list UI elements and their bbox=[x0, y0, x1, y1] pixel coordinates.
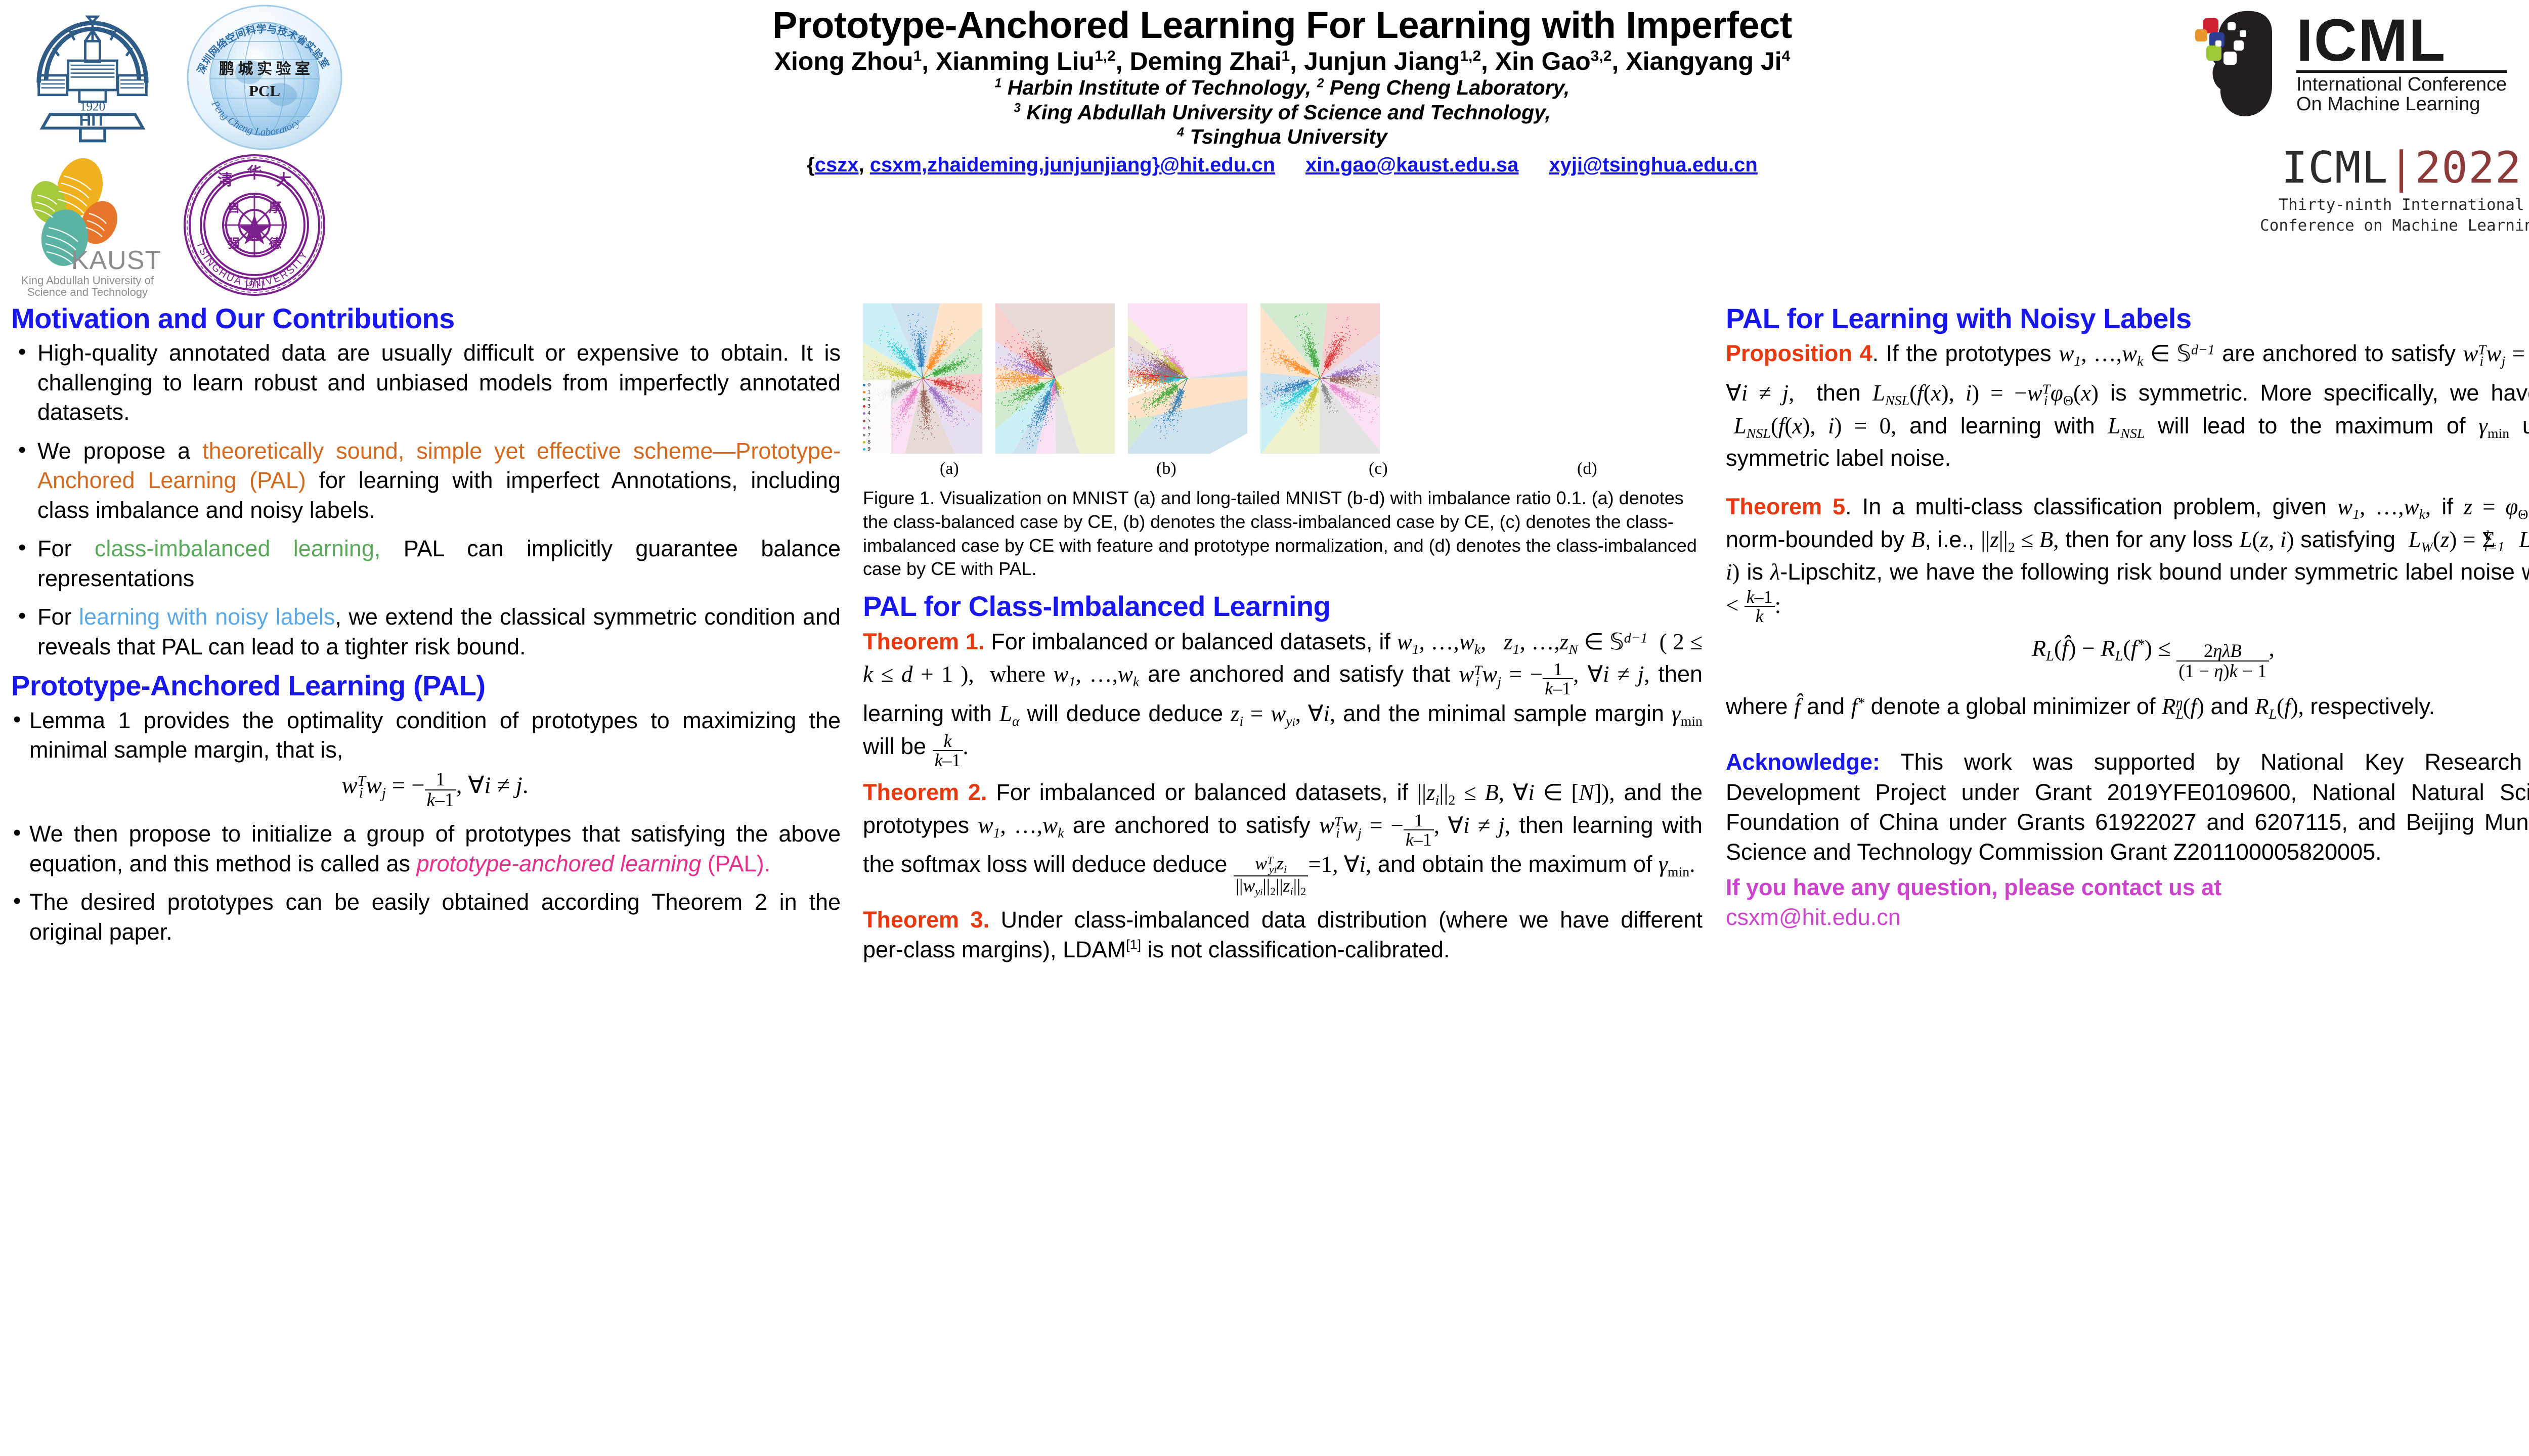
figure-legend: 0123456789 bbox=[863, 380, 891, 454]
svg-text:厚: 厚 bbox=[269, 201, 281, 215]
icml-year: 2022 bbox=[2415, 143, 2521, 193]
icml-subtitle-1: International Conference bbox=[2296, 75, 2507, 95]
section-title-class-imbalanced: PAL for Class-Imbalanced Learning bbox=[863, 591, 1703, 621]
legend-label: 0 bbox=[867, 382, 870, 388]
svg-text:大: 大 bbox=[276, 172, 291, 189]
email-row: {cszx, csxm,zhaideming,junjunjiang}@hit.… bbox=[374, 154, 2190, 177]
legend-item: 1 bbox=[863, 389, 890, 395]
affiliation-line-3: 4 Tsinghua University bbox=[374, 124, 2190, 149]
figure-label-b: (b) bbox=[1156, 459, 1176, 478]
kaust-logo-sub1: King Abdullah University of bbox=[21, 274, 154, 287]
bullet-text-5: Lemma 1 provides the optimality conditio… bbox=[29, 708, 841, 763]
legend-color-swatch bbox=[863, 391, 865, 393]
proposition-4-block: Proposition 4. If the prototypes w1, …,w… bbox=[1726, 338, 2529, 473]
svg-text:清: 清 bbox=[217, 172, 233, 189]
bullet-text-2-pre: We propose a bbox=[37, 438, 202, 464]
icml-top-logo: ICML International Conference On Machine… bbox=[2195, 3, 2529, 124]
poster-header: 1920 HIT bbox=[0, 0, 2529, 296]
legend-color-swatch bbox=[863, 420, 865, 422]
figure-panel-b bbox=[995, 303, 1115, 454]
acknowledgement-tag: Acknowledge: bbox=[1726, 749, 1880, 775]
svg-text:华: 华 bbox=[247, 165, 262, 182]
figure-panel-c bbox=[1128, 303, 1247, 454]
kaust-logo-sub2: Science and Technology bbox=[27, 286, 148, 298]
hit-logo-text: HIT bbox=[79, 111, 106, 129]
list-item: We then propose to initialize a group of… bbox=[11, 819, 841, 878]
legend-color-swatch bbox=[863, 398, 865, 401]
tsinghua-logo: 自 厚 强 德 清 华 大 TSINGHUA UNIVERSITY 1911 bbox=[171, 152, 338, 296]
list-item: The desired prototypes can be easily obt… bbox=[11, 888, 841, 947]
section-title-noisy-labels: PAL for Learning with Noisy Labels bbox=[1726, 303, 2529, 333]
section-title-pal: Prototype-Anchored Learning (PAL) bbox=[11, 671, 841, 700]
icml-logo-block: ICML International Conference On Machine… bbox=[2195, 1, 2529, 284]
legend-item: 5 bbox=[863, 418, 890, 424]
legend-label: 4 bbox=[867, 411, 870, 416]
pal-bullet-list: Lemma 1 provides the optimality conditio… bbox=[11, 706, 841, 947]
legend-item: 3 bbox=[863, 403, 890, 410]
icml-year-block: ICML|2022 Thirty-ninth International Con… bbox=[2214, 143, 2529, 234]
acknowledgement-block: Acknowledge: This work was supported by … bbox=[1726, 747, 2529, 867]
email-link-group[interactable]: csxm,zhaideming,junjunjiang bbox=[870, 154, 1152, 176]
theorem-1-text-part1: For imbalanced or balanced datasets, if bbox=[984, 629, 1390, 654]
column-right: PAL for Learning with Noisy Labels Propo… bbox=[1726, 303, 2529, 940]
icml-brain-icon bbox=[2195, 7, 2291, 121]
icml-bar: | bbox=[2388, 143, 2415, 193]
legend-label: 5 bbox=[867, 418, 870, 424]
legend-item: 7 bbox=[863, 432, 890, 438]
legend-item: 6 bbox=[863, 425, 890, 431]
pcl-logo: 鹏 城 实 验 室 PCL 深圳网络空间科学与技术省实验室 Peng Cheng… bbox=[181, 4, 348, 150]
bullet-text-6-post: (PAL). bbox=[701, 851, 770, 876]
theorem-5-block: Theorem 5. In a multi-class classificati… bbox=[1726, 492, 2529, 626]
email-brace-open: { bbox=[807, 154, 815, 176]
equation-lemma1: wTiwj = −1k–1, ∀i ≠ j. bbox=[29, 770, 841, 810]
affiliation-line-1: 1 Harbin Institute of Technology, 2 Peng… bbox=[374, 75, 2190, 100]
theorem-3-reference: [1] bbox=[1126, 937, 1141, 952]
svg-text:鹏 城 实 验 室: 鹏 城 实 验 室 bbox=[219, 60, 310, 77]
title-block: Prototype-Anchored Learning For Learning… bbox=[374, 0, 2190, 177]
theorem-3-tag: Theorem 3. bbox=[863, 907, 989, 933]
bullet-text-3-highlight: class-imbalanced learning, bbox=[95, 536, 381, 561]
email-domain-hit[interactable]: }@hit.edu.cn bbox=[1152, 154, 1275, 176]
list-item: For learning with noisy labels, we exten… bbox=[11, 602, 841, 661]
figure-panels: 0123456789 bbox=[863, 303, 1703, 455]
legend-color-swatch bbox=[863, 441, 865, 444]
pcl-logo-text: PCL bbox=[249, 82, 280, 100]
icml-conf-line-1: Thirty-ninth International bbox=[2214, 196, 2529, 214]
tsinghua-logo-year: 1911 bbox=[243, 278, 265, 291]
legend-item: 4 bbox=[863, 410, 890, 417]
motivation-bullet-list: High-quality annotated data are usually … bbox=[11, 338, 841, 661]
theorem-3-block: Theorem 3. Under class-imbalanced data d… bbox=[863, 905, 1703, 965]
legend-label: 9 bbox=[867, 447, 870, 452]
sponsor-logos: 1920 HIT bbox=[4, 2, 373, 295]
legend-item: 0 bbox=[863, 382, 890, 388]
svg-text:强: 强 bbox=[227, 237, 240, 251]
figure-caption: Figure 1. Visualization on MNIST (a) and… bbox=[863, 487, 1703, 581]
equation-theorem-5: RL(f̂) − RL(f*) ≤ 2ηλB(1 − η)k − 1, bbox=[1726, 635, 2529, 681]
contact-prompt: If you have any question, please contact… bbox=[1726, 874, 2221, 900]
list-item: For class-imbalanced learning, PAL can i… bbox=[11, 534, 841, 593]
hit-logo: 1920 HIT bbox=[9, 2, 176, 149]
bullet-text-6-highlight: prototype-anchored learning bbox=[416, 851, 701, 876]
svg-text:自: 自 bbox=[227, 201, 240, 215]
page-title: Prototype-Anchored Learning For Learning… bbox=[374, 0, 2190, 45]
legend-color-swatch bbox=[863, 405, 865, 408]
contact-block: If you have any question, please contact… bbox=[1726, 872, 2529, 933]
figure-label-c: (c) bbox=[1369, 459, 1388, 478]
legend-item: 8 bbox=[863, 439, 890, 446]
theorem-1-block: Theorem 1. For imbalanced or balanced da… bbox=[863, 627, 1703, 771]
list-item: High-quality annotated data are usually … bbox=[11, 338, 841, 427]
figure-panel-a: 0123456789 bbox=[863, 303, 982, 454]
theorem-5-tag: Theorem 5 bbox=[1726, 494, 1845, 519]
list-item: We propose a theoretically sound, simple… bbox=[11, 436, 841, 525]
email-link-cszx[interactable]: cszx bbox=[815, 154, 859, 176]
svg-text:德: 德 bbox=[269, 236, 281, 251]
poster-root: 1920 HIT bbox=[0, 0, 2529, 1456]
bullet-text-3-pre: For bbox=[37, 536, 95, 561]
legend-item: 2 bbox=[863, 396, 890, 403]
legend-label: 2 bbox=[867, 396, 870, 402]
icml-brand-2022: ICML bbox=[2282, 143, 2388, 193]
bullet-text-1: High-quality annotated data are usually … bbox=[37, 340, 841, 425]
contact-email[interactable]: csxm@hit.edu.cn bbox=[1726, 904, 1901, 930]
figure-panel-labels: (a) (b) (c) (d) bbox=[863, 455, 1703, 484]
icml-year-line: ICML|2022 bbox=[2214, 143, 2529, 193]
legend-label: 6 bbox=[867, 425, 870, 431]
icml-wordmark: ICML bbox=[2296, 13, 2507, 68]
legend-label: 1 bbox=[867, 389, 870, 395]
legend-label: 3 bbox=[867, 404, 870, 409]
theorem-2-block: Theorem 2. For imbalanced or balanced da… bbox=[863, 777, 1703, 898]
bullet-text-4-highlight: learning with noisy labels bbox=[79, 604, 335, 630]
theorem-2-tag: Theorem 2. bbox=[863, 779, 987, 805]
icml-subtitle-2: On Machine Learning bbox=[2296, 95, 2507, 114]
legend-color-swatch bbox=[863, 427, 865, 429]
email-link-tsinghua[interactable]: xyji@tsinghua.edu.cn bbox=[1549, 154, 1757, 176]
section-title-motivation: Motivation and Our Contributions bbox=[11, 303, 841, 333]
email-sep: , bbox=[859, 154, 870, 176]
column-left: Motivation and Our Contributions High-qu… bbox=[11, 303, 841, 956]
legend-color-swatch bbox=[863, 412, 865, 415]
icml-wordmark-group: ICML International Conference On Machine… bbox=[2296, 13, 2507, 114]
author-list: Xiong Zhou1, Xianming Liu1,2, Deming Zha… bbox=[374, 48, 2190, 75]
proposition-4-tag: Proposition 4 bbox=[1726, 340, 1872, 366]
bullet-text-7: The desired prototypes can be easily obt… bbox=[29, 889, 841, 945]
column-middle: 0123456789 (a) (b) (c) (d) bbox=[863, 303, 1703, 972]
icml-conf-line-2: Conference on Machine Learning bbox=[2214, 217, 2529, 235]
theorem-5-after-text: where f̂ and f* denote a global minimize… bbox=[1726, 691, 2529, 724]
theorem-1-tag: Theorem 1. bbox=[863, 629, 984, 654]
figure-label-a: (a) bbox=[940, 459, 959, 478]
legend-label: 7 bbox=[867, 432, 870, 438]
email-link-kaust[interactable]: xin.gao@kaust.edu.sa bbox=[1305, 154, 1518, 176]
legend-color-swatch bbox=[863, 384, 865, 386]
theorem-3-text-2: is not classification-calibrated. bbox=[1141, 937, 1450, 962]
figure-panel-d bbox=[1260, 303, 1380, 454]
kaust-logo-text: KAUST bbox=[71, 246, 161, 275]
legend-item: 9 bbox=[863, 446, 890, 453]
figure-label-d: (d) bbox=[1577, 459, 1597, 478]
bullet-text-4-pre: For bbox=[37, 604, 79, 630]
kaust-logo: KAUST King Abdullah University of Scienc… bbox=[4, 152, 171, 296]
legend-color-swatch bbox=[863, 434, 865, 436]
affiliation-line-2: 3 King Abdullah University of Science an… bbox=[374, 100, 2190, 124]
legend-color-swatch bbox=[863, 448, 865, 451]
legend-label: 8 bbox=[867, 439, 870, 445]
list-item: Lemma 1 provides the optimality conditio… bbox=[11, 706, 841, 810]
